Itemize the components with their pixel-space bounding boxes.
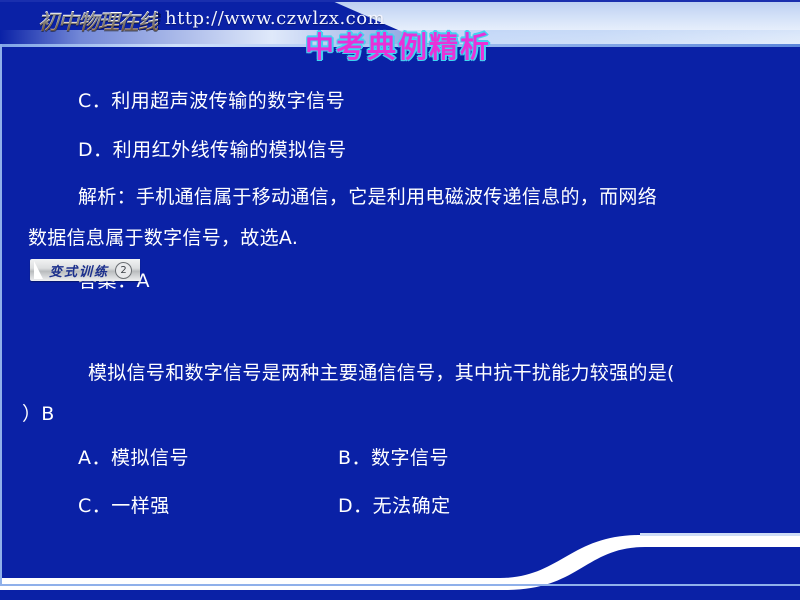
explanation-line-2: 数据信息属于数字信号，故选A. — [28, 223, 298, 250]
border-left — [0, 44, 2, 584]
swoosh-svg — [0, 515, 800, 600]
exercise-question-line-1: 模拟信号和数字信号是两种主要通信信号，其中抗干扰能力较强的是( — [88, 358, 675, 385]
site-logo: 初中物理在线 — [38, 6, 158, 36]
section-badge-label: 变式训练 — [49, 261, 109, 280]
previous-option-c: C．利用超声波传输的数字信号 — [78, 86, 345, 113]
slide-body: C．利用超声波传输的数字信号 D．利用红外线传输的模拟信号 解析：手机通信属于移… — [0, 48, 800, 518]
section-badge-number: 2 — [115, 262, 132, 279]
bottom-swoosh-decoration — [0, 515, 800, 600]
border-bottom — [0, 584, 800, 586]
exercise-option-a: A．模拟信号 — [78, 443, 189, 470]
swoosh-band — [0, 535, 800, 590]
exercise-option-c: C．一样强 — [78, 491, 170, 518]
previous-option-d: D．利用红外线传输的模拟信号 — [78, 135, 347, 162]
explanation-line-1: 解析：手机通信属于移动通信，它是利用电磁波传递信息的，而网络 — [78, 182, 657, 209]
exercise-option-d: D．无法确定 — [338, 491, 451, 518]
page-title: 中考典例精析 — [305, 24, 491, 66]
swoosh-highlight — [640, 533, 800, 536]
border-top — [0, 0, 800, 2]
exercise-option-b: B．数字信号 — [338, 443, 449, 470]
slide-canvas: 初中物理在线 http://www.czwlzx.com 中考典例精析 C．利用… — [0, 0, 800, 600]
section-badge: 变式训练 2 — [30, 259, 140, 281]
exercise-question-line-2: ）B — [22, 399, 55, 426]
flag-icon — [34, 261, 43, 279]
